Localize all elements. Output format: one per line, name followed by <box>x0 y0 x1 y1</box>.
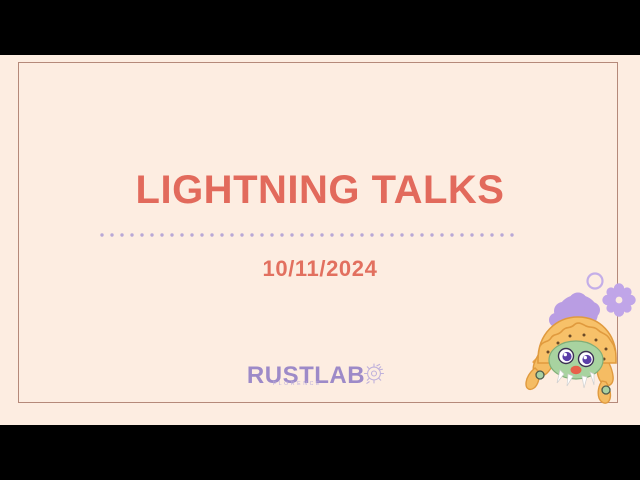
page-title: LIGHTNING TALKS <box>0 168 640 212</box>
letterbox-bottom <box>0 425 640 480</box>
flower-filled-icon <box>602 283 635 316</box>
slide-content: LIGHTNING TALKS <box>0 55 640 425</box>
gear-flower-icon <box>363 362 385 391</box>
mascot-face <box>549 341 603 388</box>
dotted-divider <box>100 233 519 237</box>
presentation-slide: LIGHTNING TALKS <box>0 55 640 425</box>
crab-mascot <box>518 264 640 414</box>
letterbox-top <box>0 0 640 55</box>
flower-outline-icon <box>588 274 603 289</box>
rustlab-subtitle: FLORENCE <box>273 381 322 387</box>
video-frame: LIGHTNING TALKS <box>0 0 640 480</box>
